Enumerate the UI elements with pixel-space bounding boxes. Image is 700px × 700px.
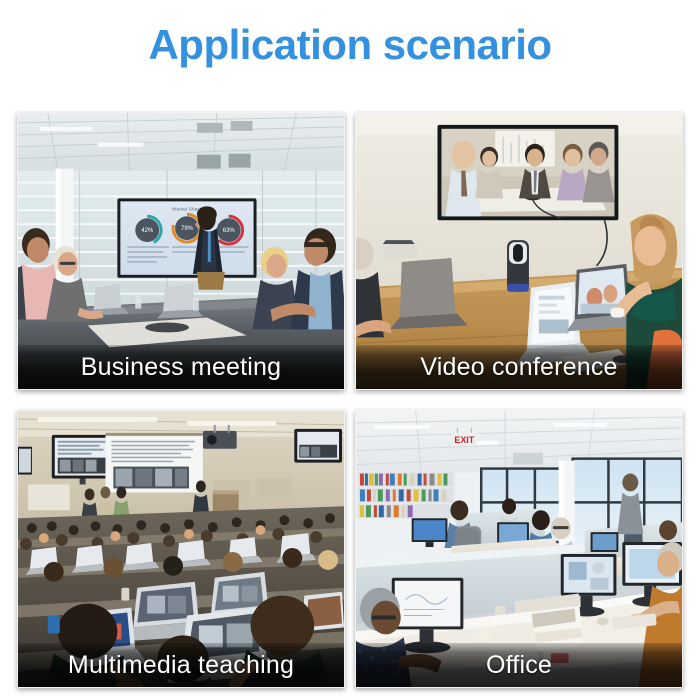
panel-caption-bar: Business meeting: [18, 345, 344, 389]
panel-caption-bar: Office: [356, 643, 682, 687]
panel-caption-label: Video conference: [420, 352, 617, 382]
scenario-panel-business-meeting[interactable]: Market Share 42% 79% 63%: [17, 112, 345, 390]
application-scenario-page: Application scenario: [0, 0, 700, 700]
svg-text:42%: 42%: [141, 228, 154, 234]
page-title: Application scenario: [0, 20, 700, 70]
scenario-panel-office[interactable]: EXIT: [355, 410, 683, 688]
svg-text:63%: 63%: [223, 228, 236, 234]
panel-caption-bar: Multimedia teaching: [18, 643, 344, 687]
panel-caption-label: Business meeting: [81, 352, 282, 382]
scenario-panel-video-conference[interactable]: Video conference: [355, 112, 683, 390]
panel-caption-bar: Video conference: [356, 345, 682, 389]
panel-caption-label: Multimedia teaching: [68, 650, 294, 680]
svg-text:79%: 79%: [181, 226, 194, 232]
svg-text:EXIT: EXIT: [454, 435, 474, 445]
panel-caption-label: Office: [486, 650, 552, 680]
scenario-grid: Market Share 42% 79% 63%: [17, 112, 683, 688]
scenario-panel-multimedia-teaching[interactable]: Multimedia teaching: [17, 410, 345, 688]
